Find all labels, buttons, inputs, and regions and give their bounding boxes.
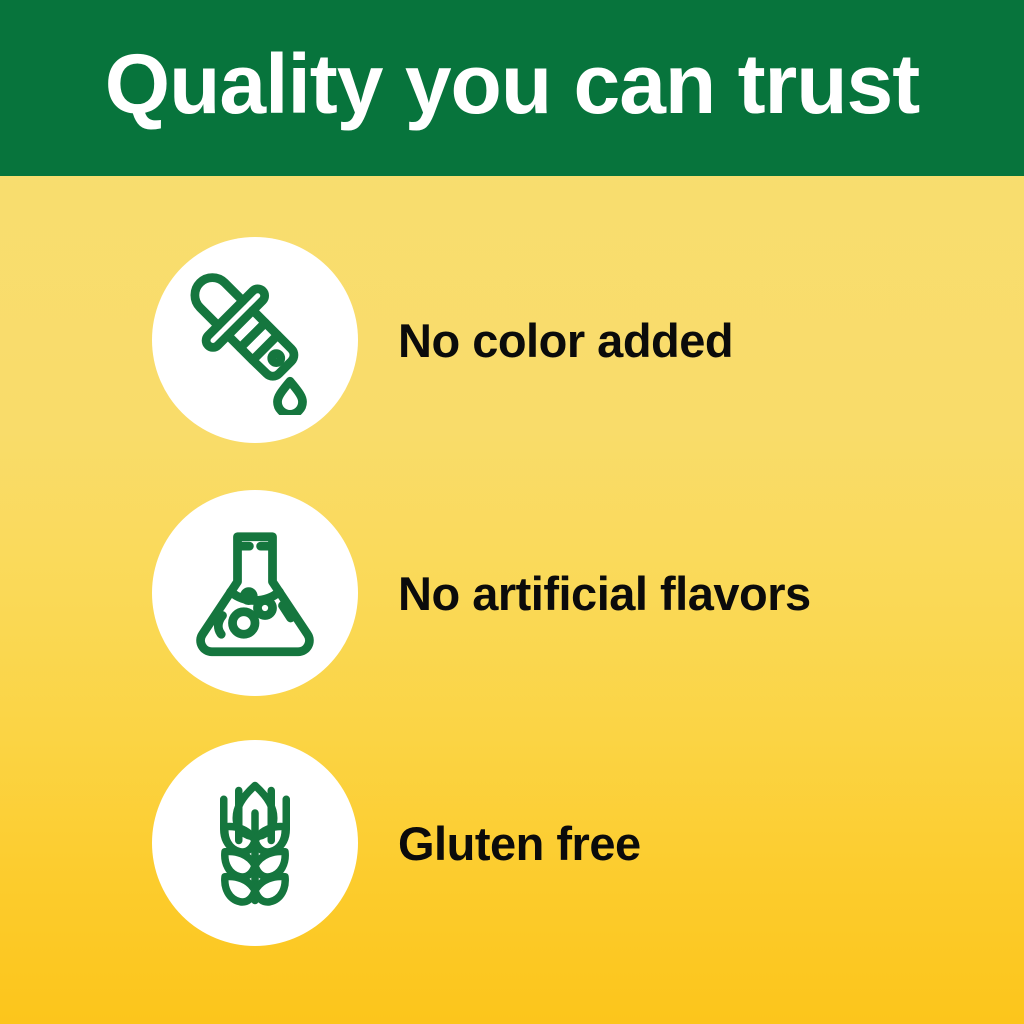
feature-item: Gluten free xyxy=(0,740,1024,946)
wheat-icon xyxy=(180,768,330,918)
dropper-icon xyxy=(180,265,330,415)
feature-list: No color added xyxy=(0,176,1024,1024)
icon-badge xyxy=(152,490,358,696)
page-title: Quality you can trust xyxy=(105,42,920,126)
feature-item: No color added xyxy=(0,237,1024,443)
feature-label: Gluten free xyxy=(398,820,641,867)
icon-badge xyxy=(152,740,358,946)
feature-label: No color added xyxy=(398,317,733,364)
quality-banner: Quality you can trust xyxy=(0,0,1024,1024)
header-band: Quality you can trust xyxy=(0,0,1024,176)
feature-label: No artificial flavors xyxy=(398,570,811,617)
feature-item: No artificial flavors xyxy=(0,490,1024,696)
flask-icon xyxy=(180,518,330,668)
icon-badge xyxy=(152,237,358,443)
